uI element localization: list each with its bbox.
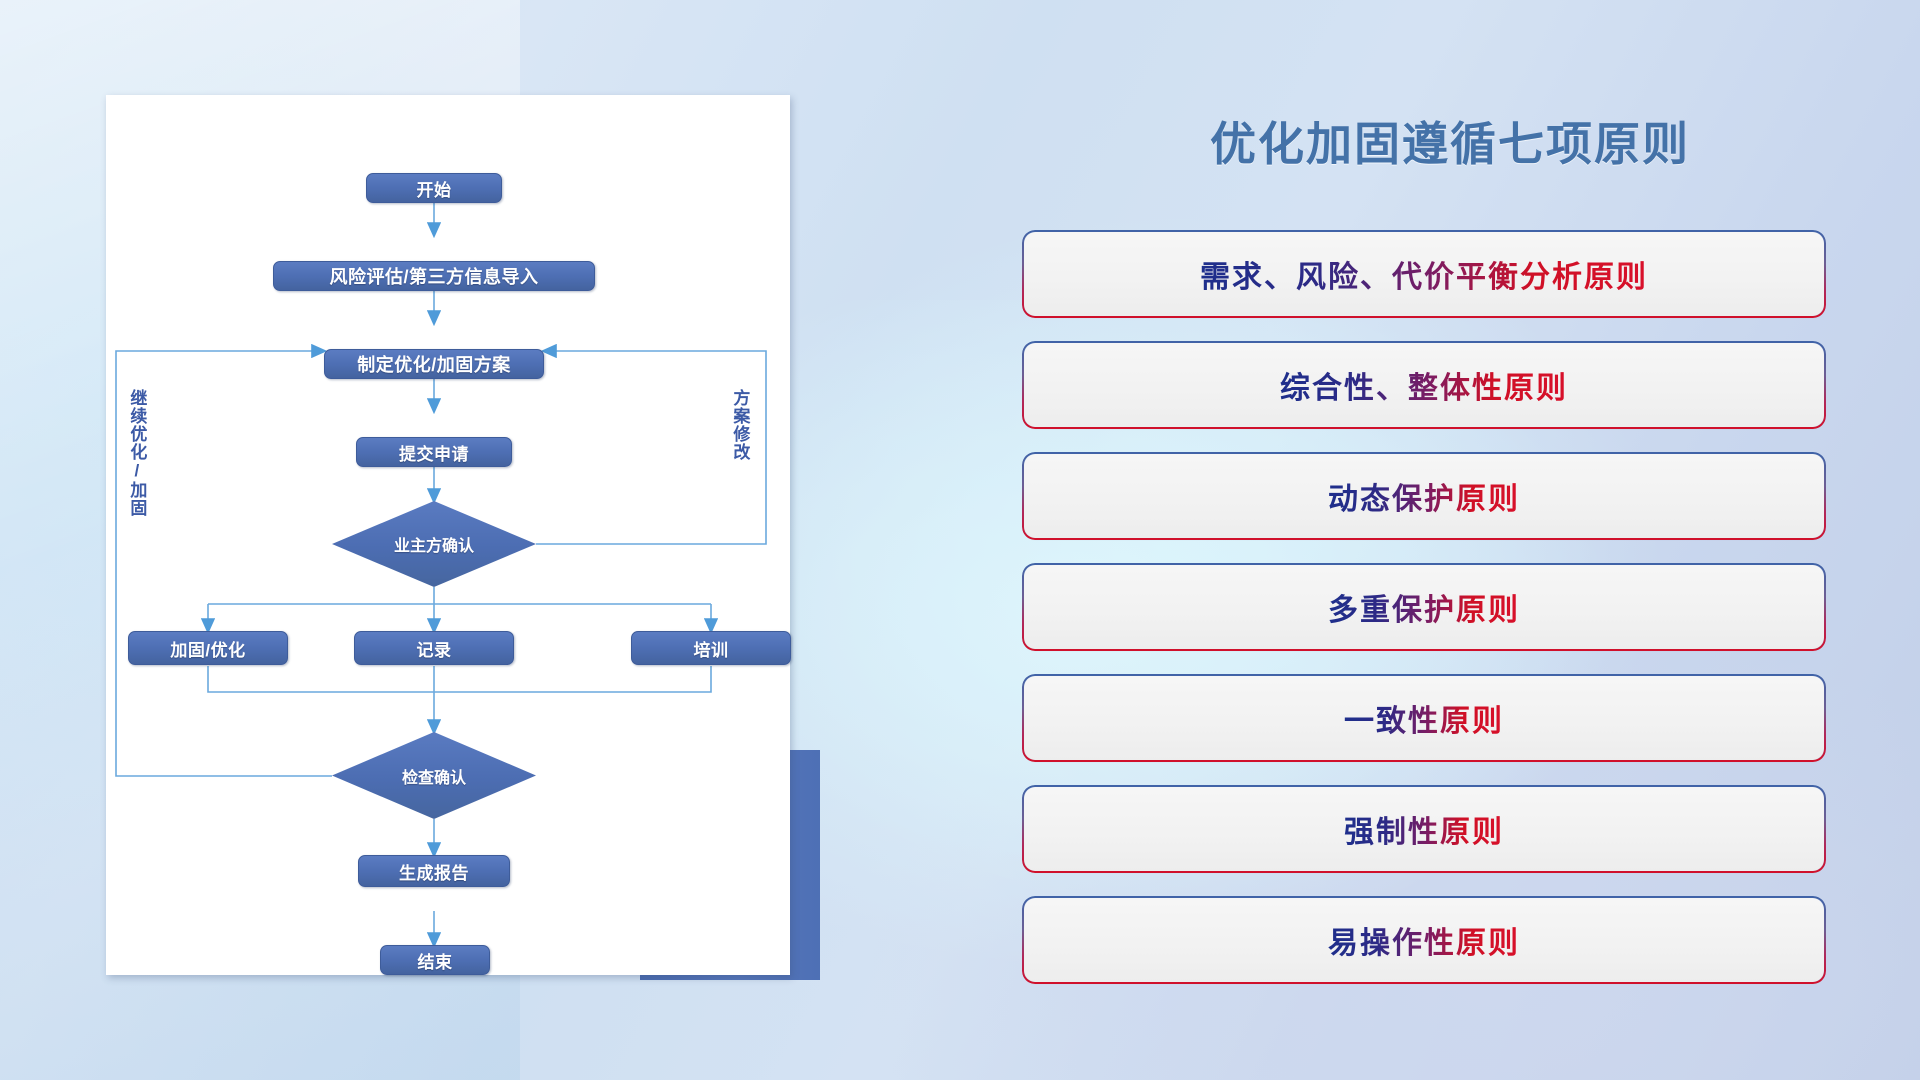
flow-node-owner-confirm[interactable]: 业主方确认 [332,501,536,587]
flow-node-generate-report[interactable]: 生成报告 [358,855,510,887]
principle-label: 综合性、整体性原则 [1280,363,1568,407]
principle-label: 需求、风险、代价平衡分析原则 [1200,252,1648,296]
flow-node-label: 生成报告 [399,859,469,884]
slide-root: 开始 风险评估/第三方信息导入 制定优化/加固方案 提交申请 业主方确认 加固/… [0,0,1920,1080]
principle-item-7[interactable]: 易操作性原则 [1024,898,1824,982]
principles-list: 需求、风险、代价平衡分析原则 综合性、整体性原则 动态保护原则 多重保护原则 一… [1024,232,1824,1009]
flow-node-submit-application[interactable]: 提交申请 [356,437,512,467]
flow-node-record[interactable]: 记录 [354,631,514,665]
principle-label: 易操作性原则 [1328,918,1520,962]
principles-panel: 优化加固遵循七项原则 需求、风险、代价平衡分析原则 综合性、整体性原则 动态保护… [1010,0,1890,1080]
principle-label: 一致性原则 [1344,696,1504,740]
flow-node-training[interactable]: 培训 [631,631,791,665]
principle-item-1[interactable]: 需求、风险、代价平衡分析原则 [1024,232,1824,316]
flow-node-label: 加固/优化 [170,636,245,661]
flow-node-label: 培训 [694,636,729,661]
flow-node-start[interactable]: 开始 [366,173,502,203]
flow-edge-label-plan-revision: 方案修改 [731,389,748,461]
flow-node-label: 风险评估/第三方信息导入 [330,263,539,289]
principle-label: 多重保护原则 [1328,585,1520,629]
principle-item-2[interactable]: 综合性、整体性原则 [1024,343,1824,427]
flow-node-label: 结束 [418,948,453,973]
flow-node-label: 开始 [417,176,452,201]
principle-item-3[interactable]: 动态保护原则 [1024,454,1824,538]
flow-node-inspection-confirm[interactable]: 检查确认 [332,732,536,819]
flow-node-end[interactable]: 结束 [380,945,490,975]
flow-node-label: 制定优化/加固方案 [357,351,511,377]
flow-node-risk-assessment[interactable]: 风险评估/第三方信息导入 [273,261,595,291]
principle-item-6[interactable]: 强制性原则 [1024,787,1824,871]
flow-node-label: 检查确认 [402,764,466,788]
flowchart-card: 开始 风险评估/第三方信息导入 制定优化/加固方案 提交申请 业主方确认 加固/… [106,95,790,975]
panel-title: 优化加固遵循七项原则 [1010,108,1890,174]
flow-node-label: 业主方确认 [394,532,474,556]
principle-item-5[interactable]: 一致性原则 [1024,676,1824,760]
flow-node-label: 提交申请 [399,440,469,465]
principle-label: 动态保护原则 [1328,474,1520,518]
flow-node-label: 记录 [417,636,452,661]
principle-item-4[interactable]: 多重保护原则 [1024,565,1824,649]
flowchart: 开始 风险评估/第三方信息导入 制定优化/加固方案 提交申请 业主方确认 加固/… [106,95,790,975]
principle-label: 强制性原则 [1344,807,1504,851]
flow-edge-label-continue-optimize: 继续优化/加固 [128,389,145,517]
flow-node-plan[interactable]: 制定优化/加固方案 [324,349,544,379]
flow-node-reinforce-optimize[interactable]: 加固/优化 [128,631,288,665]
